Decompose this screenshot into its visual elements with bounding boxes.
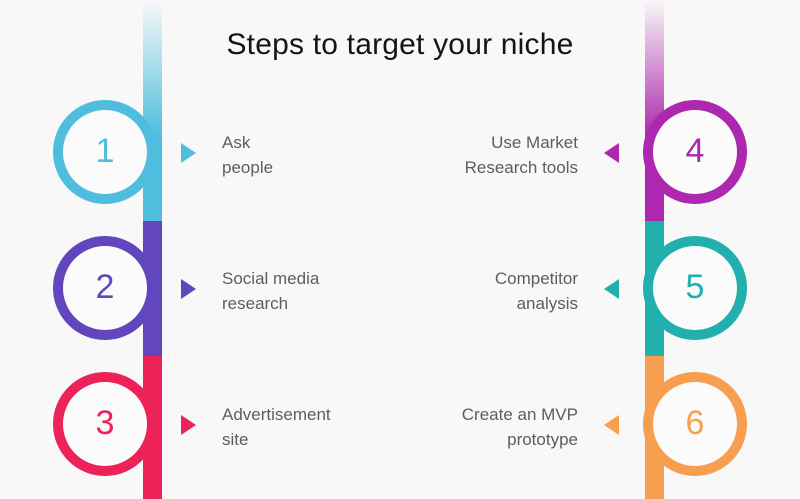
step-label-4: Use Market Research tools — [465, 130, 578, 180]
arrow-left-icon-4 — [604, 143, 619, 163]
arrow-right-icon-1 — [181, 143, 196, 163]
arrow-right-icon-3 — [181, 415, 196, 435]
step-number-5: 5 — [686, 270, 705, 304]
step-item-3[interactable]: 3 Advertisement site — [50, 372, 390, 476]
step-number-2: 2 — [96, 270, 115, 304]
step-number-6: 6 — [686, 406, 705, 440]
step-number-4: 4 — [686, 134, 705, 168]
arrow-left-icon-5 — [604, 279, 619, 299]
arrow-right-icon-2 — [181, 279, 196, 299]
page-title: Steps to target your niche — [0, 28, 800, 62]
step-circle-1: 1 — [53, 100, 157, 204]
step-number-3: 3 — [96, 406, 115, 440]
step-label-2: Social media research — [222, 266, 319, 316]
step-item-2[interactable]: 2 Social media research — [50, 236, 390, 340]
step-item-1[interactable]: 1 Ask people — [50, 100, 390, 204]
step-label-1: Ask people — [222, 130, 273, 180]
step-label-3: Advertisement site — [222, 402, 331, 452]
step-circle-3: 3 — [53, 372, 157, 476]
step-circle-4: 4 — [643, 100, 747, 204]
step-circle-6: 6 — [643, 372, 747, 476]
step-label-5: Competitor analysis — [495, 266, 578, 316]
infographic-canvas: Steps to target your niche 1 Ask people … — [0, 0, 800, 499]
step-item-4[interactable]: 4 Use Market Research tools — [430, 100, 750, 204]
step-circle-2: 2 — [53, 236, 157, 340]
arrow-left-icon-6 — [604, 415, 619, 435]
step-item-6[interactable]: 6 Create an MVP prototype — [430, 372, 750, 476]
step-item-5[interactable]: 5 Competitor analysis — [430, 236, 750, 340]
step-circle-5: 5 — [643, 236, 747, 340]
step-label-6: Create an MVP prototype — [462, 402, 578, 452]
step-number-1: 1 — [96, 134, 115, 168]
